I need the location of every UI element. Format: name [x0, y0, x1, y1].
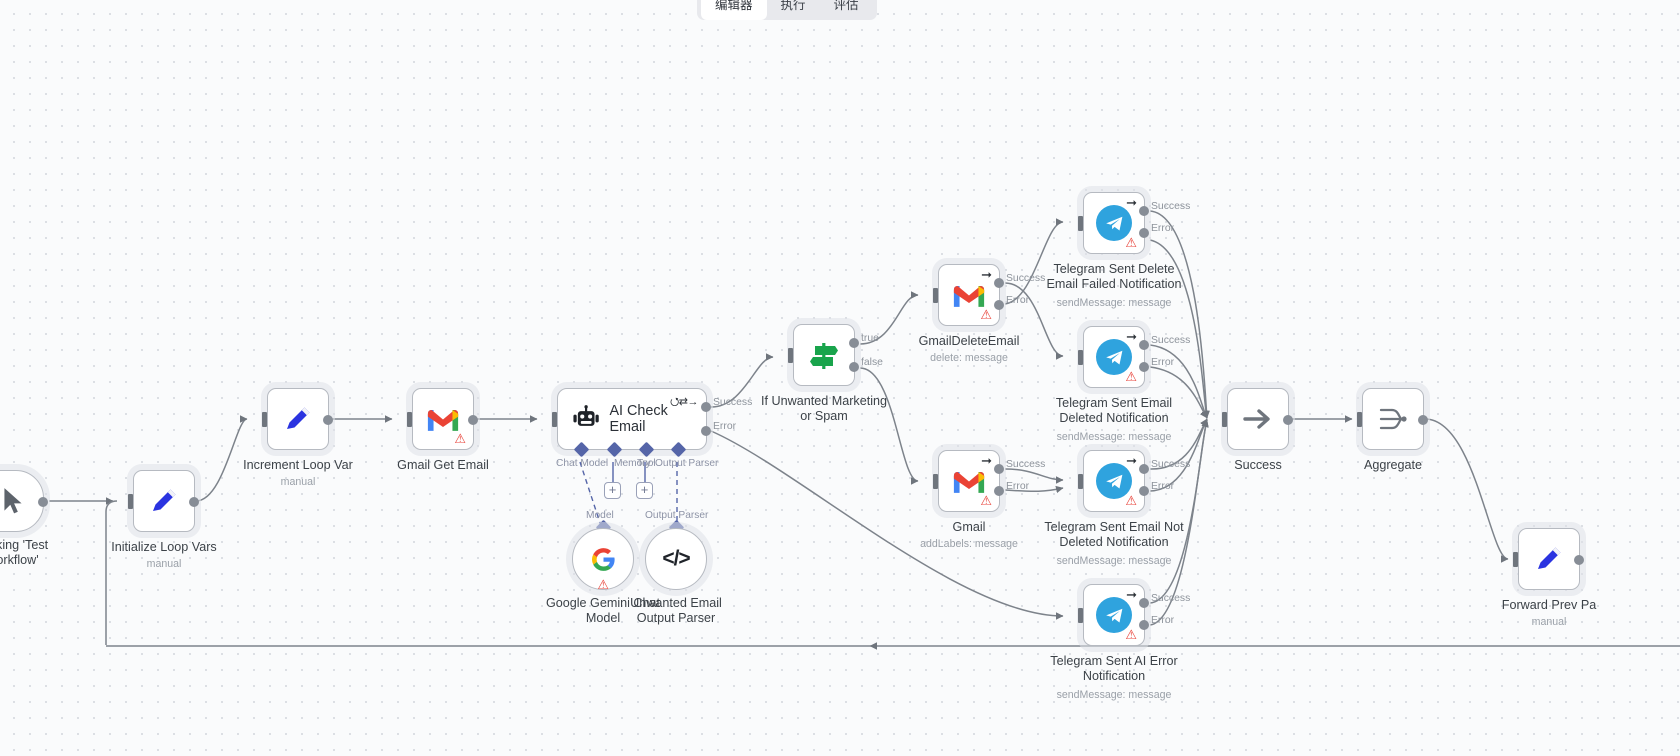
port-tag-error: Error: [1006, 481, 1029, 492]
input-port[interactable]: [1078, 608, 1083, 623]
port-tag-error: Error: [1151, 615, 1174, 626]
warning-icon: ⚠: [597, 578, 609, 591]
connector-label-model: Model: [586, 510, 614, 521]
input-port[interactable]: [407, 412, 412, 427]
sub-connector-chat-model[interactable]: [574, 442, 590, 458]
output-port-main[interactable]: [38, 497, 48, 507]
telegram-email-deleted-box[interactable]: ➞ ⚠ Success Error: [1083, 326, 1145, 388]
warning-icon: ⚠: [1125, 236, 1137, 249]
node-label: Telegram Sent AI Error Notification: [1019, 654, 1209, 683]
pencil-icon: [148, 485, 180, 517]
warning-icon: ⚠: [980, 308, 992, 321]
warning-icon: ⚠: [1125, 494, 1137, 507]
output-port-false[interactable]: false: [849, 362, 859, 372]
node-label: Telegram Sent Email Deleted Notification: [1024, 396, 1204, 425]
node-label: Telegram Sent Delete Email Failed Notifi…: [1024, 262, 1204, 291]
increment-loop-var-box[interactable]: [267, 388, 329, 450]
node-forward-prev-page[interactable]: Forward Prev Pa manual: [1518, 528, 1580, 590]
add-memory-button[interactable]: +: [604, 482, 621, 499]
output-port-error[interactable]: Error: [1139, 362, 1149, 372]
output-port-main[interactable]: [1574, 555, 1584, 565]
input-port[interactable]: [262, 412, 267, 427]
node-label: If Unwanted Marketing or Spam: [744, 394, 904, 423]
output-port-main[interactable]: [323, 415, 333, 425]
output-port-main[interactable]: [468, 415, 478, 425]
workflow-canvas[interactable]: 编辑器 执行 评估 clicking 'Test workflow' Initi…: [0, 0, 1680, 756]
input-port[interactable]: [933, 474, 938, 489]
input-port[interactable]: [128, 494, 133, 509]
node-aggregate[interactable]: Aggregate: [1362, 388, 1424, 450]
output-port-main[interactable]: [189, 497, 199, 507]
port-tag-error: Error: [713, 421, 736, 432]
telegram-ai-error-box[interactable]: ➞ ⚠ Success Error: [1083, 584, 1145, 646]
input-port[interactable]: [1222, 412, 1227, 427]
gmail-get-email-box[interactable]: ⚠: [412, 388, 474, 450]
code-icon: </>: [662, 547, 689, 571]
port-tag-success: Success: [1151, 593, 1190, 604]
warning-icon: ⚠: [980, 494, 992, 507]
tab-executions[interactable]: 执行: [767, 0, 820, 20]
output-port-success[interactable]: Success: [1139, 598, 1149, 608]
input-port[interactable]: [1078, 474, 1083, 489]
arrow-right-badge-icon: ➞: [1126, 588, 1137, 601]
port-tag-success: Success: [1006, 459, 1045, 470]
node-label: Aggregate: [1313, 458, 1473, 473]
arrow-right-badge-icon: ➞: [1126, 196, 1137, 209]
output-port-true[interactable]: true: [849, 338, 859, 348]
google-icon: [590, 546, 617, 573]
telegram-email-not-deleted-box[interactable]: ➞ ⚠ Success Error: [1083, 450, 1145, 512]
node-subtitle: manual: [1462, 616, 1637, 628]
loop-refresh-icon: ⭯⇄→: [670, 393, 698, 412]
input-port[interactable]: [788, 348, 793, 363]
port-tag-true: true: [861, 333, 879, 344]
sub-connector-label-chat-model: Chat Model: [556, 458, 608, 469]
node-unwanted-email-output-parser[interactable]: Output Parser </> Unwanted Email Output …: [645, 528, 707, 590]
output-port-error[interactable]: Error: [994, 486, 1004, 496]
telegram-delete-failed-box[interactable]: ➞ ⚠ Success Error: [1083, 192, 1145, 254]
tab-evaluations[interactable]: 评估: [820, 0, 873, 20]
node-subtitle: sendMessage: message: [1027, 555, 1202, 567]
initialize-loop-vars-box[interactable]: [133, 470, 195, 532]
output-port-error[interactable]: Error: [1139, 620, 1149, 630]
arrow-right-badge-icon: ➞: [1126, 454, 1137, 467]
aggregate-box[interactable]: [1362, 388, 1424, 450]
arrow-right-badge-icon: ➞: [1126, 330, 1137, 343]
output-port-error[interactable]: Error: [1139, 486, 1149, 496]
node-initialize-loop-vars[interactable]: Initialize Loop Vars manual: [133, 470, 195, 532]
output-port-success[interactable]: Success: [1139, 206, 1149, 216]
cursor-icon: [0, 486, 26, 516]
ai-check-email-box[interactable]: ⭯⇄→ AI Check Email Success Error: [557, 388, 707, 450]
if-signpost-icon: [807, 339, 841, 371]
node-subtitle: sendMessage: message: [1027, 689, 1202, 701]
warning-icon: ⚠: [454, 432, 466, 445]
output-port-main[interactable]: [1418, 415, 1428, 425]
sub-connector-output-parser[interactable]: [671, 442, 687, 458]
node-ai-check-email[interactable]: ⭯⇄→ AI Check Email Success Error: [557, 388, 707, 450]
gmail-icon: [952, 282, 986, 309]
node-gmail-delete-email[interactable]: ➞ ⚠ Success Error GmailDeleteEmail delet…: [938, 264, 1000, 326]
output-parser-box[interactable]: </>: [645, 528, 707, 590]
input-port[interactable]: [1513, 552, 1518, 567]
node-manual-trigger[interactable]: clicking 'Test workflow': [0, 470, 44, 532]
robot-icon: [570, 405, 599, 433]
gmail-icon: [426, 406, 460, 433]
node-telegram-sent-delete-email-failed-notification[interactable]: ➞ ⚠ Success Error Telegram Sent Delete E…: [1083, 192, 1145, 254]
aggregate-icon: [1378, 405, 1408, 433]
node-label: Telegram Sent Email Not Deleted Notifica…: [1019, 520, 1209, 549]
input-port[interactable]: [552, 412, 557, 427]
output-port-main[interactable]: [1283, 415, 1293, 425]
output-port-error[interactable]: Error: [994, 300, 1004, 310]
node-increment-loop-var[interactable]: Increment Loop Var manual: [267, 388, 329, 450]
arrow-right-badge-icon: ➞: [981, 454, 992, 467]
add-tool-button[interactable]: +: [636, 482, 653, 499]
gmail-icon: [952, 468, 986, 495]
output-port-success[interactable]: Success: [1139, 340, 1149, 350]
node-subtitle: manual: [77, 558, 252, 570]
if-node-box[interactable]: true false: [793, 324, 855, 386]
node-if-unwanted-marketing-or-spam[interactable]: true false If Unwanted Marketing or Spam: [793, 324, 855, 386]
node-subtitle: delete: message: [882, 352, 1057, 364]
port-tag-error: Error: [1151, 481, 1174, 492]
node-label: Unwanted Email Output Parser: [586, 596, 766, 625]
arrow-right-badge-icon: ➞: [981, 268, 992, 281]
port-tag-error: Error: [1151, 357, 1174, 368]
node-gmail-add-labels[interactable]: ➞ ⚠ Success Error Gmail addLabels: messa…: [938, 450, 1000, 512]
output-port-success[interactable]: Success: [994, 278, 1004, 288]
node-label: Gmail Get Email: [363, 458, 523, 473]
node-label: Forward Prev Pa: [1474, 598, 1624, 613]
forward-prev-page-box[interactable]: [1518, 528, 1580, 590]
sub-connector-label-output-parser: Output Parser: [655, 458, 718, 469]
input-port[interactable]: [1357, 412, 1362, 427]
sub-connector-label-tool: Tool: [637, 458, 656, 469]
gmail-delete-email-box[interactable]: ➞ ⚠ Success Error: [938, 264, 1000, 326]
editor-tabstrip[interactable]: 编辑器 执行 评估: [697, 0, 877, 20]
gmail-add-labels-box[interactable]: ➞ ⚠ Success Error: [938, 450, 1000, 512]
port-tag-error: Error: [1151, 223, 1174, 234]
port-tag-success: Success: [1151, 335, 1190, 346]
input-port[interactable]: [1078, 350, 1083, 365]
output-port-success[interactable]: Success: [701, 402, 711, 412]
output-port-error[interactable]: Error: [701, 426, 711, 436]
output-port-error[interactable]: Error: [1139, 228, 1149, 238]
output-port-success[interactable]: Success: [1139, 464, 1149, 474]
warning-icon: ⚠: [1125, 370, 1137, 383]
node-subtitle: sendMessage: message: [1027, 297, 1202, 309]
node-success[interactable]: Success: [1227, 388, 1289, 450]
success-box[interactable]: [1227, 388, 1289, 450]
pencil-icon: [282, 403, 314, 435]
sub-connector-memory[interactable]: [607, 442, 623, 458]
port-tag-success: Success: [1151, 201, 1190, 212]
node-label: Increment Loop Var: [218, 458, 378, 473]
sub-connector-tool[interactable]: [639, 442, 655, 458]
node-google-gemini-chat-model[interactable]: Model ⚠ Google Gemini Chat Model: [572, 528, 634, 590]
node-subtitle: manual: [211, 476, 386, 488]
tab-editor[interactable]: 编辑器: [701, 0, 767, 20]
node-gmail-get-email[interactable]: ⚠ Gmail Get Email: [412, 388, 474, 450]
output-port-success[interactable]: Success: [994, 464, 1004, 474]
node-label: Initialize Loop Vars: [84, 540, 244, 555]
port-tag-false: false: [861, 357, 883, 368]
google-gemini-box[interactable]: ⚠: [572, 528, 634, 590]
input-port[interactable]: [933, 288, 938, 303]
node-telegram-sent-ai-error-notification[interactable]: ➞ ⚠ Success Error Telegram Sent AI Error…: [1083, 584, 1145, 646]
node-telegram-sent-email-deleted-notification[interactable]: ➞ ⚠ Success Error Telegram Sent Email De…: [1083, 326, 1145, 388]
arrow-right-icon: [1241, 404, 1275, 434]
pencil-icon: [1533, 543, 1565, 575]
node-subtitle: sendMessage: message: [1027, 431, 1202, 443]
node-label: GmailDeleteEmail: [889, 334, 1049, 349]
warning-icon: ⚠: [1125, 628, 1137, 641]
manual-trigger-box[interactable]: [0, 470, 44, 532]
input-port[interactable]: [1078, 216, 1083, 231]
node-telegram-sent-email-not-deleted-notification[interactable]: ➞ ⚠ Success Error Telegram Sent Email No…: [1083, 450, 1145, 512]
